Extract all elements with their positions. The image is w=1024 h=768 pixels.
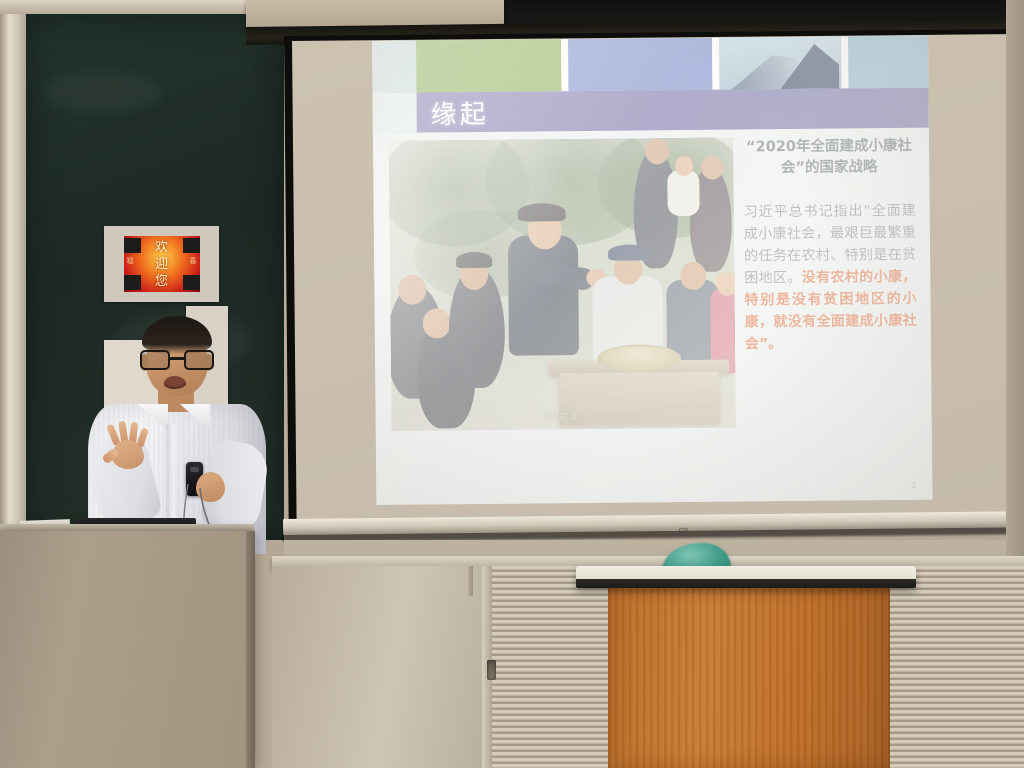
slide-title: 缘起 [431,94,489,131]
band-cell-green [416,39,561,92]
remote-button[interactable] [190,467,199,472]
lectern-body [608,586,890,768]
wall-trim-left [0,0,26,560]
presenter-palm-2 [196,472,225,502]
louvered-cabinet-door-right[interactable] [890,566,1024,768]
band-cell-picture [719,36,842,89]
podium-right-edge [246,531,255,768]
lectern-desktop [576,566,916,588]
projected-slide: 缘起 [372,36,932,505]
right-wall-strip [1006,0,1024,556]
slide-decorative-band [372,36,928,93]
poster-char-3: 您 [155,272,168,289]
glasses-bridge [170,357,184,360]
slide-page-number: 2 [911,480,916,490]
welcome-poster-characters: 欢 迎 您 [124,238,200,289]
glasses-lens-right [184,350,214,370]
band-cell-pale [372,41,417,93]
screen-brand-label: QS [679,528,689,534]
slide-text-column: “2020年全面建成小康社会”的国家战略 习近平总书记指出“全面建成小康社会，最… [743,136,917,356]
presenter [60,312,290,552]
poster-glyph-left: 福 [127,256,134,266]
poster-char-1: 欢 [155,238,168,255]
welcome-poster: 欢 迎 您 福 喜 [104,226,219,302]
lecture-hall-scene: 欢 迎 您 福 喜 缘起 [0,0,1024,768]
presenter-hair [142,316,212,354]
presenter-glasses [140,350,214,370]
presenter-remote-hand [186,462,226,502]
slide-body-text: 习近平总书记指出“全面建成小康社会，最艰巨最繁重的任务在农村、特别是在贫困地区。… [744,200,917,356]
welcome-poster-artwork: 欢 迎 您 福 喜 [124,236,200,292]
poster-char-2: 迎 [155,255,168,272]
podium [0,531,252,768]
poster-glyph-right: 喜 [190,256,197,266]
slide-title-notch [372,93,416,133]
slide-photo: 新华视点 [389,138,736,431]
band-cell-blue [568,38,713,91]
cabinet-panel-left [272,566,488,768]
slide-photo-watermark: 新华视点 [542,411,578,422]
glasses-lens-left [140,350,170,370]
slide-heading: “2020年全面建成小康社会”的国家战略 [743,136,915,180]
presenter-mouth [164,376,186,389]
band-cell-lightblue [848,36,929,89]
slide-photo-projector-wash [389,138,736,431]
presenter-gesturing-hand [108,424,150,470]
cabinet-door-handle[interactable] [487,660,496,680]
ledge-bracket [468,566,473,596]
